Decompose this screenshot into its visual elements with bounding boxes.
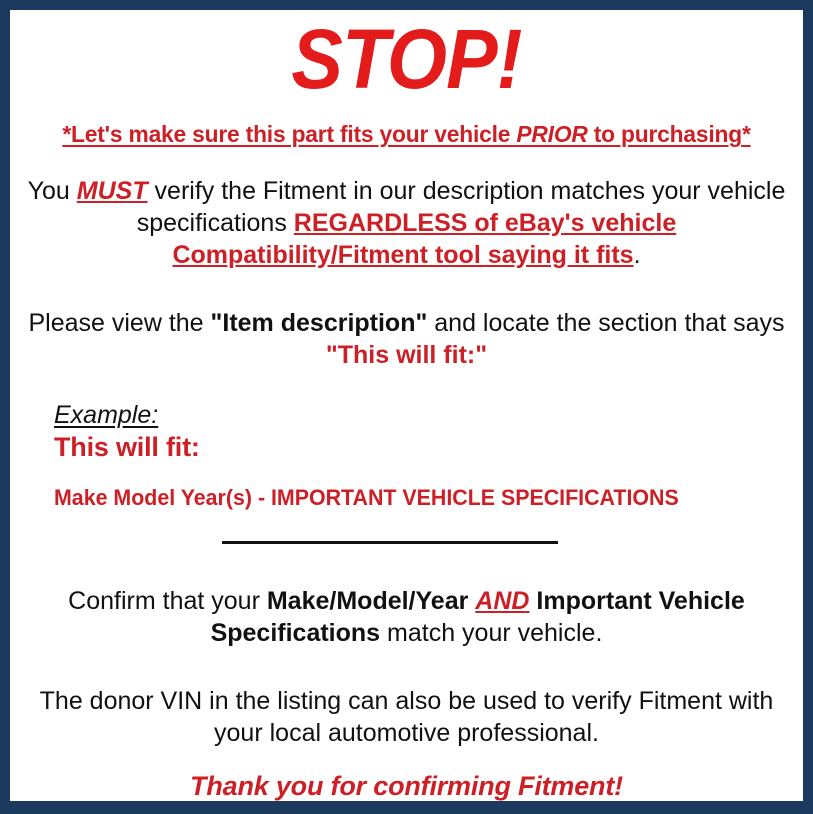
notice-border-frame: STOP! *Let's make sure this part fits yo…: [0, 0, 813, 814]
confirm-seg-4: match your vehicle.: [380, 619, 602, 647]
stop-headline: STOP!: [42, 10, 772, 100]
confirm-seg-1: Confirm that your: [68, 587, 267, 615]
example-spec-line: Make Model Year(s) - IMPORTANT VEHICLE S…: [54, 485, 766, 511]
thank-you-line: Thank you for confirming Fitment!: [10, 771, 803, 802]
subtitle-text-before: *Let's make sure this part fits your veh…: [62, 121, 516, 147]
fitment-notice-card: STOP! *Let's make sure this part fits yo…: [10, 10, 803, 801]
subtitle-emphasis-prior: PRIOR: [516, 121, 587, 147]
fitment-subtitle: *Let's make sure this part fits your veh…: [22, 120, 791, 148]
must-seg-1: You: [28, 177, 77, 205]
must-verify-paragraph: You MUST verify the Fitment in our descr…: [10, 175, 803, 271]
example-label: Example:: [54, 401, 158, 430]
horizontal-divider: [222, 541, 558, 544]
emphasis-and: AND: [475, 587, 529, 615]
emphasis-make-model-year: Make/Model/Year: [267, 587, 468, 615]
view-seg-2: and locate the section that says: [427, 309, 784, 337]
emphasis-item-description: "Item description": [211, 309, 428, 337]
confirm-paragraph: Confirm that your Make/Model/Year AND Im…: [10, 585, 803, 649]
divider-wrap: [10, 541, 803, 555]
donor-vin-paragraph: The donor VIN in the listing can also be…: [10, 685, 803, 749]
item-description-paragraph: Please view the "Item description" and l…: [10, 307, 803, 371]
emphasis-this-will-fit: "This will fit:": [326, 341, 487, 369]
must-seg-3: .: [634, 241, 641, 269]
example-this-will-fit: This will fit:: [54, 432, 803, 463]
example-block: Example: This will fit: Make Model Year(…: [10, 401, 803, 511]
view-seg-1: Please view the: [28, 309, 210, 337]
subtitle-text-after: to purchasing*: [588, 121, 751, 147]
emphasis-must: MUST: [77, 177, 148, 205]
